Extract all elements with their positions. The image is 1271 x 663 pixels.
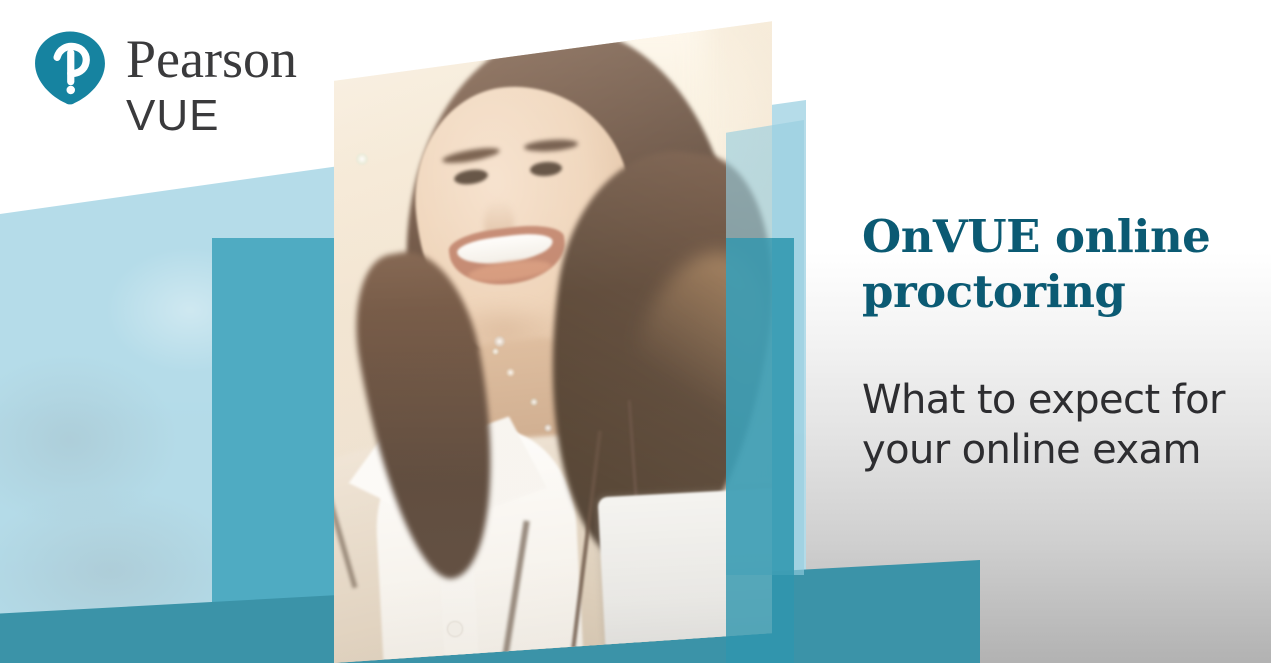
page-subtitle: What to expect for your online exam: [862, 375, 1242, 476]
photo-subject-shirt-button: [448, 622, 462, 636]
decorative-band-mid-overlay: [726, 238, 794, 663]
photo-bokeh-sparkle: [492, 348, 499, 355]
photo-bokeh-sparkle: [544, 424, 552, 432]
hero-photo-canvas: [334, 0, 772, 663]
slide-text-block: OnVUE online proctoring What to expect f…: [862, 210, 1242, 476]
logo-word-pearson: Pearson: [126, 32, 297, 86]
logo-wordmark: Pearson VUE: [126, 30, 297, 138]
pearson-p-interrobang-icon: [32, 30, 108, 106]
pearson-vue-logo: Pearson VUE: [32, 30, 297, 138]
hero-photo: [334, 0, 772, 663]
photo-bokeh-sparkle: [356, 153, 368, 165]
page-title: OnVUE online proctoring: [862, 210, 1242, 320]
photo-bokeh-sparkle: [530, 398, 538, 406]
title-slide: Pearson VUE OnVUE online proctoring What…: [0, 0, 1271, 663]
logo-word-vue: VUE: [126, 94, 297, 138]
photo-bokeh-sparkle: [506, 368, 515, 377]
photo-bokeh-sparkle: [494, 336, 505, 347]
